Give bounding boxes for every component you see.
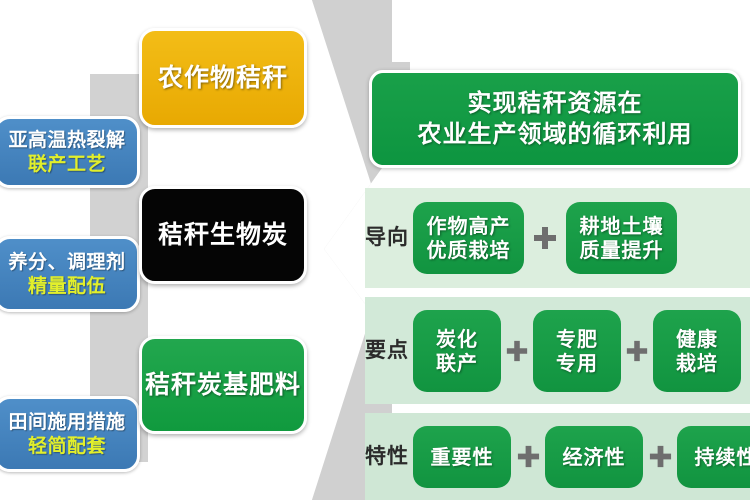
- goal-banner-line1: 实现秸秆资源在: [468, 88, 643, 119]
- panel-row-orientation-label: 导向: [365, 226, 409, 250]
- product-card-biochar-fertilizer[interactable]: 秸秆炭基肥料: [139, 336, 307, 434]
- plus-icon: [643, 444, 677, 469]
- process-card-2[interactable]: 养分、调理剂 精量配伍: [0, 236, 140, 312]
- process-card-1-line1: 亚高温热裂解: [8, 129, 125, 151]
- characteristic-item-1[interactable]: 重要性: [413, 426, 511, 488]
- orientation-item-1-line1: 作物高产: [427, 214, 511, 238]
- notch-top: [392, 0, 750, 62]
- orientation-item-2[interactable]: 耕地土壤 质量提升: [566, 202, 677, 274]
- process-card-1[interactable]: 亚高温热裂解 联产工艺: [0, 116, 140, 188]
- process-card-3-line1: 田间施用措施: [8, 411, 125, 433]
- characteristic-item-2-line1: 经济性: [563, 445, 626, 469]
- panel-row-keypoints-items: 炭化 联产 专肥 专用 健康 栽培: [409, 310, 750, 392]
- panel-row-characteristics-label: 特性: [365, 445, 409, 469]
- panel-row-keypoints: 要点 炭化 联产 专肥 专用 健康 栽培: [365, 297, 750, 404]
- plus-icon: [501, 339, 533, 363]
- keypoint-item-1-line1: 炭化: [436, 327, 478, 351]
- process-card-1-line2: 联产工艺: [28, 153, 106, 175]
- keypoint-item-2-line1: 专肥: [556, 327, 598, 351]
- plus-icon: [524, 225, 566, 251]
- process-card-3[interactable]: 田间施用措施 轻简配套: [0, 396, 140, 472]
- panel-row-characteristics-items: 重要性 经济性 持续性: [409, 426, 750, 488]
- diagram-canvas: 亚高温热裂解 联产工艺 养分、调理剂 精量配伍 田间施用措施 轻简配套 农作物秸…: [0, 0, 750, 500]
- keypoint-item-3-line1: 健康: [676, 327, 718, 351]
- panel-row-orientation: 导向 作物高产 优质栽培 耕地土壤 质量提升: [365, 188, 750, 288]
- plus-icon: [511, 444, 545, 469]
- process-card-2-line2: 精量配伍: [28, 275, 106, 297]
- product-card-biochar[interactable]: 秸秆生物炭: [139, 186, 307, 284]
- orientation-item-1-line2: 优质栽培: [427, 238, 511, 262]
- panel-row-orientation-items: 作物高产 优质栽培 耕地土壤 质量提升: [409, 202, 750, 274]
- product-card-biochar-fertilizer-label: 秸秆炭基肥料: [145, 370, 301, 400]
- keypoint-item-2[interactable]: 专肥 专用: [533, 310, 621, 392]
- characteristic-item-2[interactable]: 经济性: [545, 426, 643, 488]
- process-card-2-line1: 养分、调理剂: [8, 251, 125, 273]
- product-card-crop-straw[interactable]: 农作物秸秆: [139, 28, 307, 128]
- characteristic-item-3[interactable]: 持续性: [677, 426, 750, 488]
- goal-banner[interactable]: 实现秸秆资源在 农业生产领域的循环利用: [369, 70, 741, 168]
- product-card-crop-straw-label: 农作物秸秆: [158, 63, 288, 93]
- notch-mid1: [392, 172, 750, 186]
- keypoint-item-1-line2: 联产: [436, 351, 478, 375]
- goal-banner-line2: 农业生产领域的循环利用: [418, 119, 693, 150]
- orientation-item-1[interactable]: 作物高产 优质栽培: [413, 202, 524, 274]
- characteristic-item-3-line1: 持续性: [695, 445, 750, 469]
- panel-row-keypoints-label: 要点: [365, 339, 409, 363]
- keypoint-item-1[interactable]: 炭化 联产: [413, 310, 501, 392]
- plus-icon: [621, 339, 653, 363]
- panel-row-characteristics: 特性 重要性 经济性 持续性: [365, 413, 750, 500]
- characteristic-item-1-line1: 重要性: [431, 445, 494, 469]
- orientation-item-2-line1: 耕地土壤: [580, 214, 664, 238]
- keypoint-item-3[interactable]: 健康 栽培: [653, 310, 741, 392]
- keypoint-item-3-line2: 栽培: [676, 351, 718, 375]
- product-card-biochar-label: 秸秆生物炭: [158, 220, 288, 250]
- orientation-item-2-line2: 质量提升: [580, 238, 664, 262]
- process-card-3-line2: 轻简配套: [28, 435, 106, 457]
- keypoint-item-2-line2: 专用: [556, 351, 598, 375]
